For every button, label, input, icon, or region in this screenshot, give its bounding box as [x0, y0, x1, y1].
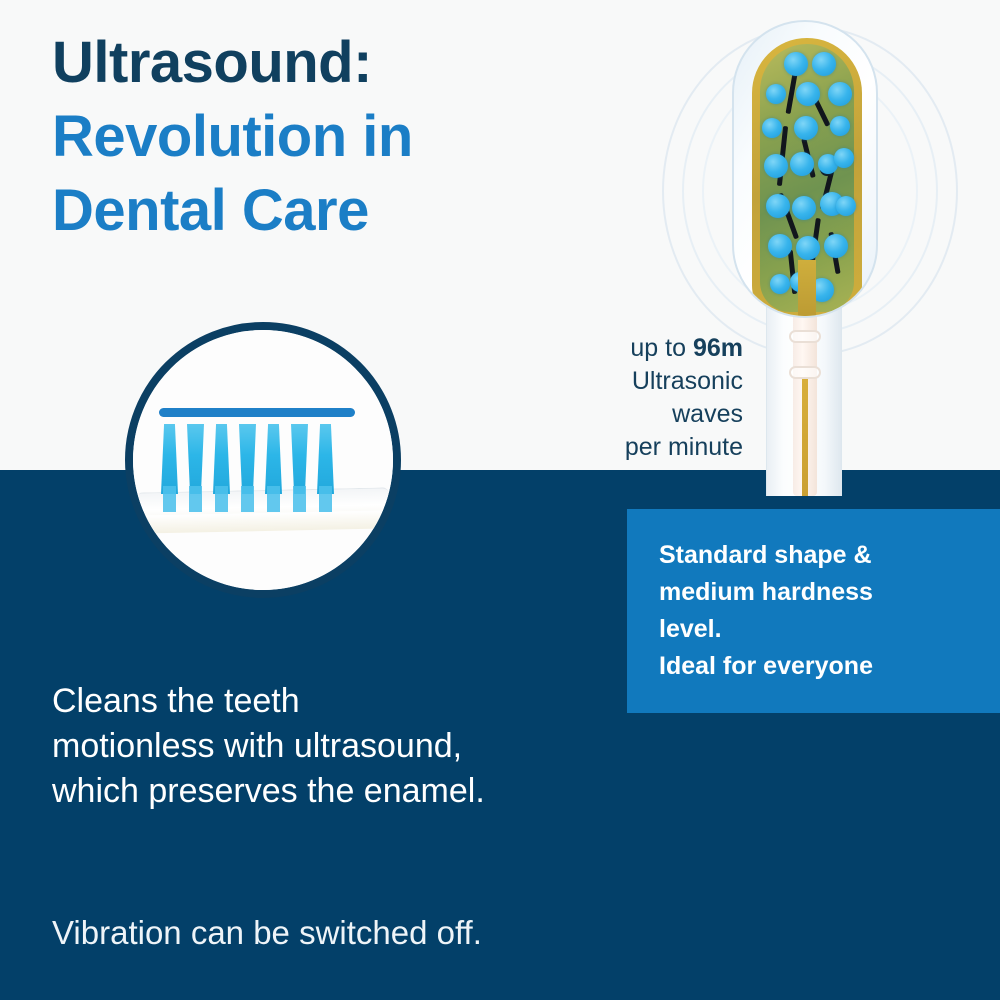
bristle-socket — [267, 486, 280, 512]
bristle-tuft — [291, 424, 308, 494]
bristle-socket — [241, 486, 254, 512]
bristle-tuft — [766, 194, 790, 218]
brush-head-capsule — [732, 20, 878, 318]
bristle-tuft — [764, 154, 788, 178]
body-copy-line-2: motionless with ultrasound, — [52, 724, 652, 769]
bristle-tuft — [796, 236, 820, 260]
bristle-tuft — [770, 274, 790, 294]
bristle-tuft — [792, 196, 816, 220]
body-copy-line-3: which preserves the enamel. — [52, 769, 652, 814]
bristle-tuft — [794, 116, 818, 140]
waves-caption-line-4: per minute — [413, 431, 743, 464]
waves-caption-line-3: waves — [413, 398, 743, 431]
bristle-tuft — [784, 52, 808, 76]
footer-copy-line-1: Vibration can be switched off. — [52, 912, 692, 955]
bristle-socket — [319, 486, 332, 512]
bristle-tuft — [834, 148, 854, 168]
body-copy-line-1: Cleans the teeth — [52, 679, 652, 724]
waves-caption-line-2: Ultrasonic — [413, 365, 743, 398]
bristle-socket — [215, 486, 228, 512]
bristle-closeup-circle — [125, 322, 401, 598]
page-title: Ultrasound: Revolution in Dental Care — [52, 26, 612, 249]
waves-prefix: up to — [630, 334, 693, 362]
callout-line-2: medium hardness — [659, 574, 979, 611]
handle-gold-strip — [802, 378, 808, 496]
bristle-tuft — [213, 424, 230, 494]
bristle-tuft — [790, 152, 814, 176]
footer-copy: Vibration can be switched off. — [52, 912, 692, 955]
hardness-callout-box: Standard shape & medium hardness level. … — [627, 509, 1000, 713]
bristle-tuft — [828, 82, 852, 106]
head-neck-gold — [798, 260, 816, 318]
title-line-3: Dental Care — [52, 174, 612, 248]
bristle-tuft — [796, 82, 820, 106]
bristle-tuft — [812, 52, 836, 76]
bristle-tuft — [239, 424, 256, 494]
waves-caption-line-1: up to 96m — [413, 332, 743, 365]
bristle-tuft — [830, 116, 850, 136]
bristle-socket — [189, 486, 202, 512]
bristle-tuft — [317, 424, 334, 494]
bristle-tuft — [187, 424, 204, 494]
bristle-level-line — [159, 408, 355, 417]
circle-photo-inner — [133, 330, 393, 590]
callout-text: Standard shape & medium hardness level. … — [659, 537, 979, 685]
handle-ring-2 — [789, 330, 821, 343]
title-line-2: Revolution in — [52, 100, 612, 174]
bristle-tuft — [762, 118, 782, 138]
brush-head-base — [139, 487, 390, 532]
body-copy: Cleans the teeth motionless with ultraso… — [52, 679, 652, 815]
callout-line-3: level. — [659, 611, 979, 648]
callout-line-4: Ideal for everyone — [659, 648, 979, 685]
bristle-tuft — [824, 234, 848, 258]
title-line-1: Ultrasound: — [52, 26, 612, 100]
bristle-tuft — [161, 424, 178, 494]
bristle-tuft — [836, 196, 856, 216]
handle-ring-3 — [789, 366, 821, 379]
bristle-socket — [293, 486, 306, 512]
waves-value: 96m — [693, 334, 743, 362]
infographic-poster: Ultrasound: Revolution in Dental Care — [0, 0, 1000, 1000]
bristle-socket — [163, 486, 176, 512]
bristle-tuft — [766, 84, 786, 104]
callout-line-1: Standard shape & — [659, 537, 979, 574]
ultrasonic-waves-caption: up to 96m Ultrasonic waves per minute — [413, 332, 743, 464]
bristle-tuft — [265, 424, 282, 494]
bristle-tuft — [768, 234, 792, 258]
